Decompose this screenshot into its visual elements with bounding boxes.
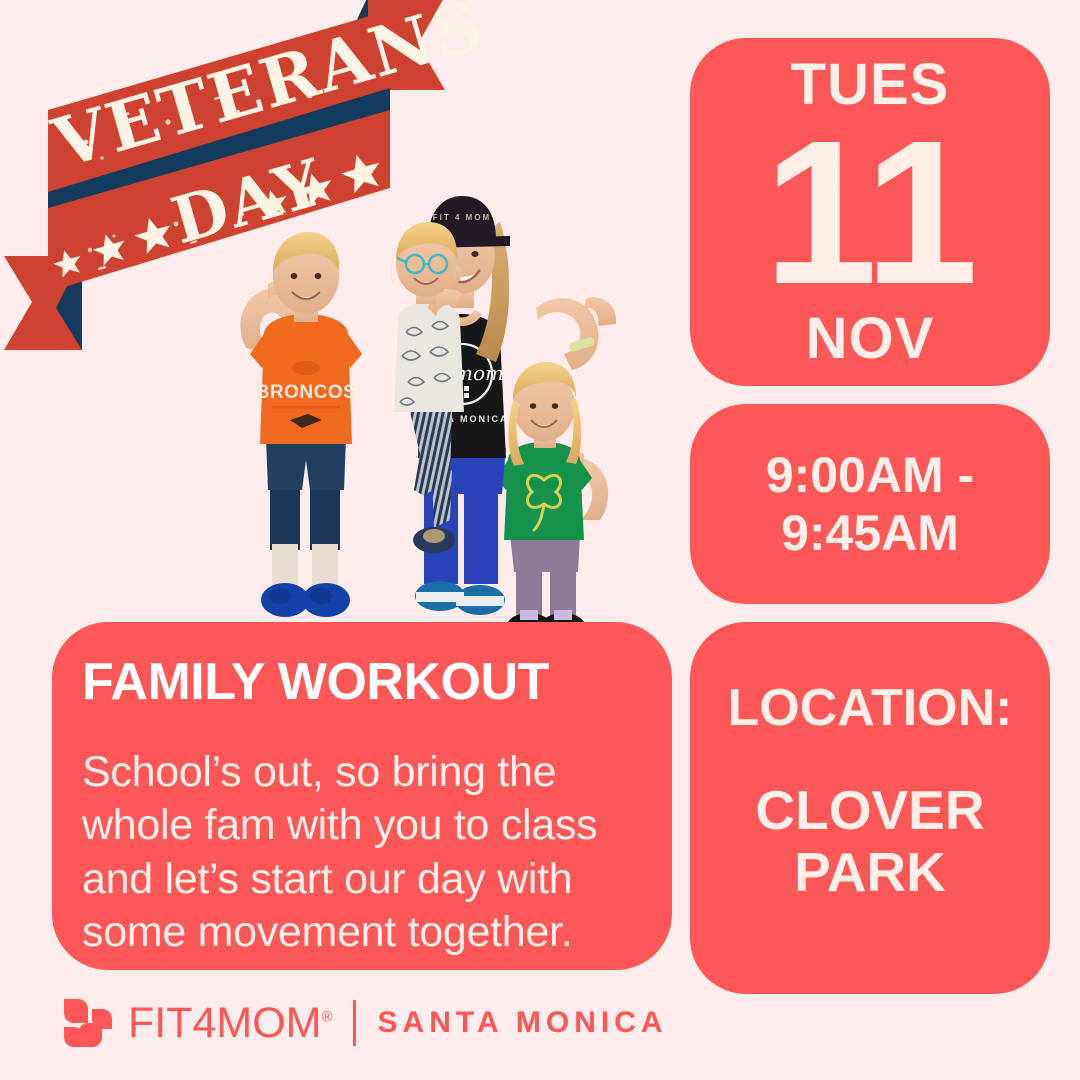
time-end-line: 9:45AM: [781, 505, 959, 561]
day-number: 11: [764, 118, 977, 309]
description-card: FAMILY WORKOUT School’s out, so bring th…: [52, 622, 672, 970]
month-label: NOV: [806, 310, 935, 368]
photo-boy: BRONCOS: [240, 232, 362, 617]
fit4mom-petal-icon: [58, 995, 118, 1051]
date-card: TUES 11 NOV: [690, 38, 1050, 386]
photo-girl: [496, 362, 608, 639]
location-name: CLOVER PARK: [755, 780, 984, 903]
time-card: 9:00AM - 9:45AM: [690, 404, 1050, 604]
poster-canvas: VETERANS DAY: [0, 0, 1080, 1080]
workout-description: School’s out, so bring the whole fam wit…: [82, 746, 642, 959]
time-start-line: 9:00AM -: [766, 447, 974, 503]
svg-text:BRONCOS: BRONCOS: [256, 382, 357, 403]
location-name-line2: PARK: [794, 841, 946, 903]
affiliate-name: SANTA MONICA: [378, 1008, 668, 1038]
registered-mark: ®: [321, 1008, 332, 1025]
location-label: LOCATION:: [728, 682, 1013, 734]
brand-text: FIT4MOM: [128, 999, 321, 1047]
footer-logo: FIT4MOM® SANTA MONICA: [58, 992, 668, 1054]
family-photo: BRONCOS: [228, 148, 624, 640]
location-card: LOCATION: CLOVER PARK: [690, 622, 1050, 994]
fit4mom-wordmark: FIT4MOM®: [128, 1002, 333, 1045]
workout-title: FAMILY WORKOUT: [82, 656, 642, 708]
logo-divider: [353, 1000, 356, 1046]
location-name-line1: CLOVER: [755, 779, 984, 841]
time-range: 9:00AM - 9:45AM: [766, 446, 974, 562]
svg-text:FIT 4 MOM: FIT 4 MOM: [433, 213, 491, 222]
